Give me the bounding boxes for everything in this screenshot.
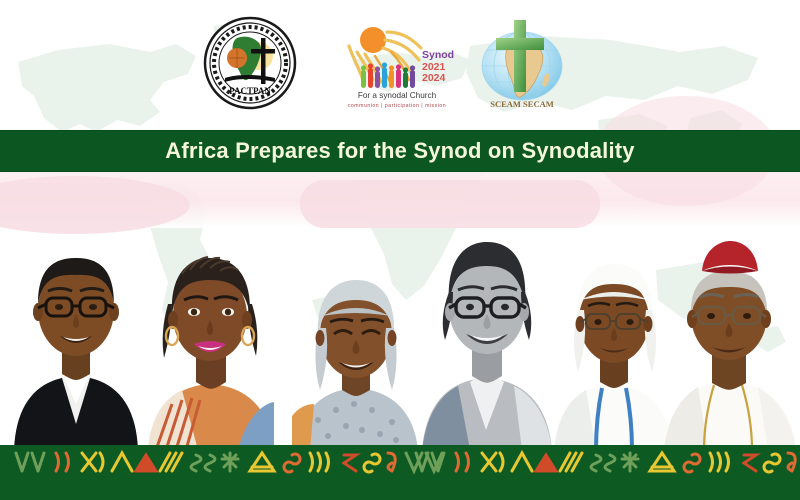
portrait-mother-marie-diouf (552, 240, 676, 450)
page-title: Africa Prepares for the Synod on Synodal… (165, 138, 634, 164)
portrait-cardinal-wilfrid-napier (664, 235, 800, 450)
pactpan-caption: PACTPAN (229, 86, 271, 96)
synod-tagline: For a synodal Church (358, 91, 437, 100)
portrait-redemptor-faith-atieno (142, 228, 282, 450)
speaker-portraits: Prof Paulinus Odozor, CSSP (0, 205, 800, 450)
pactpan-logo: PACTPAN (203, 16, 297, 110)
poster-canvas: PACTPAN (0, 0, 800, 500)
title-banner: Africa Prepares for the Synod on Synodal… (0, 130, 800, 172)
secam-caption: SCEAM SECAM (490, 99, 554, 109)
secam-logo: SCEAM SECAM (470, 14, 570, 112)
synod-year-bottom: 2024 (422, 72, 446, 84)
synod-word: Synod (422, 49, 454, 61)
portrait-elizabeth-nduku (292, 258, 424, 450)
portrait-desiree-wanteu (418, 222, 558, 450)
synod-subtagline: communion | participation | mission (348, 103, 446, 109)
logo-row: PACTPAN (0, 0, 800, 128)
synod-logo: Synod 2021 2024 For a synodal Church com… (337, 18, 457, 110)
portrait-paulinus-odozor (6, 218, 146, 450)
adinkra-pattern-band (0, 445, 800, 500)
